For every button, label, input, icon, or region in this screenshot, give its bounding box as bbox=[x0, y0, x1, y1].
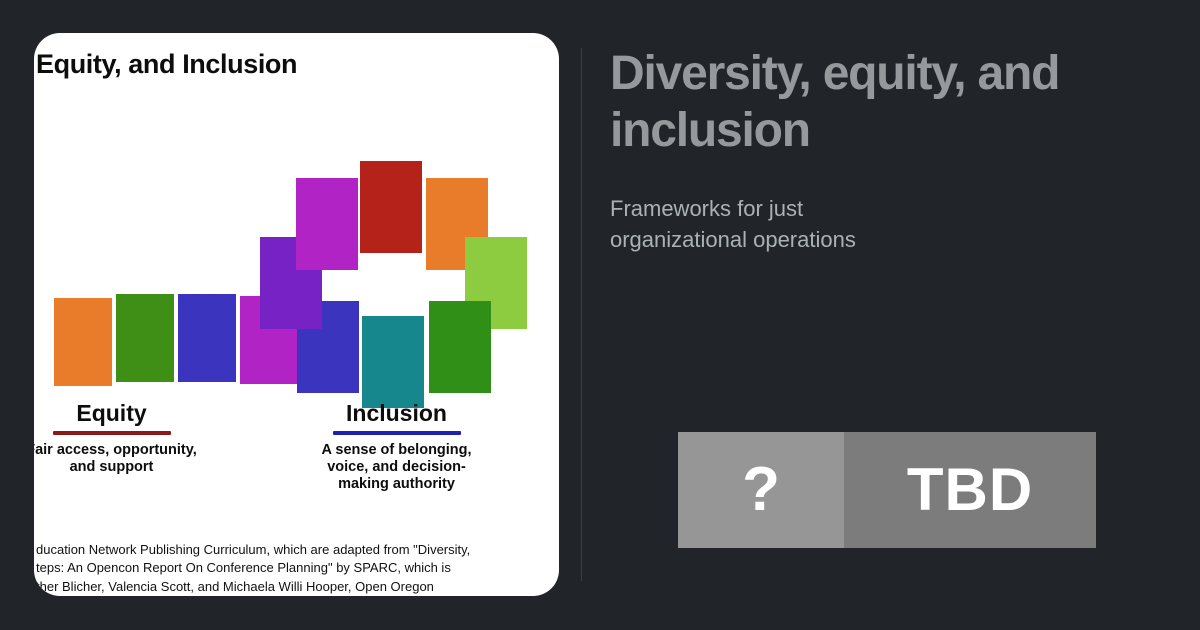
equity-figure-green bbox=[116, 294, 174, 382]
dei-diagram-artwork: Equity, and Inclusion bbox=[34, 33, 559, 596]
vertical-divider bbox=[581, 48, 582, 581]
figure-body bbox=[360, 191, 422, 253]
inclusion-figure-magenta bbox=[296, 178, 358, 270]
info-column: Diversity, equity, and inclusion Framewo… bbox=[610, 46, 1150, 256]
artwork-title: Equity, and Inclusion bbox=[36, 49, 297, 80]
equity-description: Fair access, opportunity, and support bbox=[34, 442, 204, 476]
inclusion-caption: Inclusion A sense of belonging, voice, a… bbox=[304, 401, 489, 493]
equity-figure-orange bbox=[54, 298, 112, 386]
figure-body bbox=[429, 331, 491, 393]
equity-caption: Equity Fair access, opportunity, and sup… bbox=[34, 401, 204, 476]
figure-body bbox=[296, 208, 358, 270]
figure-body bbox=[54, 328, 112, 386]
equity-figure-blue bbox=[178, 294, 236, 382]
equity-term: Equity bbox=[76, 401, 146, 429]
attribution-line: ther Blicher, Valencia Scott, and Michae… bbox=[36, 578, 559, 596]
figure-body bbox=[297, 331, 359, 393]
figure-body bbox=[362, 346, 424, 408]
page-title: Diversity, equity, and inclusion bbox=[610, 46, 1150, 159]
attribution-line: teps: An Opencon Report On Conference Pl… bbox=[36, 559, 559, 577]
attribution-text: ducation Network Publishing Curriculum, … bbox=[36, 541, 559, 596]
page-subtitle: Frameworks for just organizational opera… bbox=[610, 193, 940, 255]
inclusion-underline bbox=[333, 431, 461, 435]
inclusion-figure-dark-red bbox=[360, 161, 422, 253]
inclusion-description: A sense of belonging, voice, and decisio… bbox=[304, 442, 489, 493]
inclusion-term: Inclusion bbox=[346, 401, 447, 429]
badge-label-section: TBD bbox=[844, 432, 1096, 548]
badge-question-section: ? bbox=[678, 432, 844, 548]
preview-image-card[interactable]: Equity, and Inclusion bbox=[34, 33, 559, 596]
figure-body bbox=[260, 267, 322, 329]
figure-body bbox=[178, 324, 236, 382]
page-root: Equity, and Inclusion bbox=[0, 0, 1200, 630]
inclusion-figure-teal bbox=[362, 316, 424, 408]
question-mark-icon: ? bbox=[742, 459, 780, 521]
inclusion-figure-ring bbox=[259, 161, 519, 401]
attribution-line: ducation Network Publishing Curriculum, … bbox=[36, 541, 559, 559]
equity-underline bbox=[53, 431, 171, 435]
badge-label: TBD bbox=[907, 460, 1033, 520]
figure-body bbox=[116, 324, 174, 382]
tbd-badge[interactable]: ? TBD bbox=[678, 432, 1096, 548]
inclusion-figure-dark-green bbox=[429, 301, 491, 393]
